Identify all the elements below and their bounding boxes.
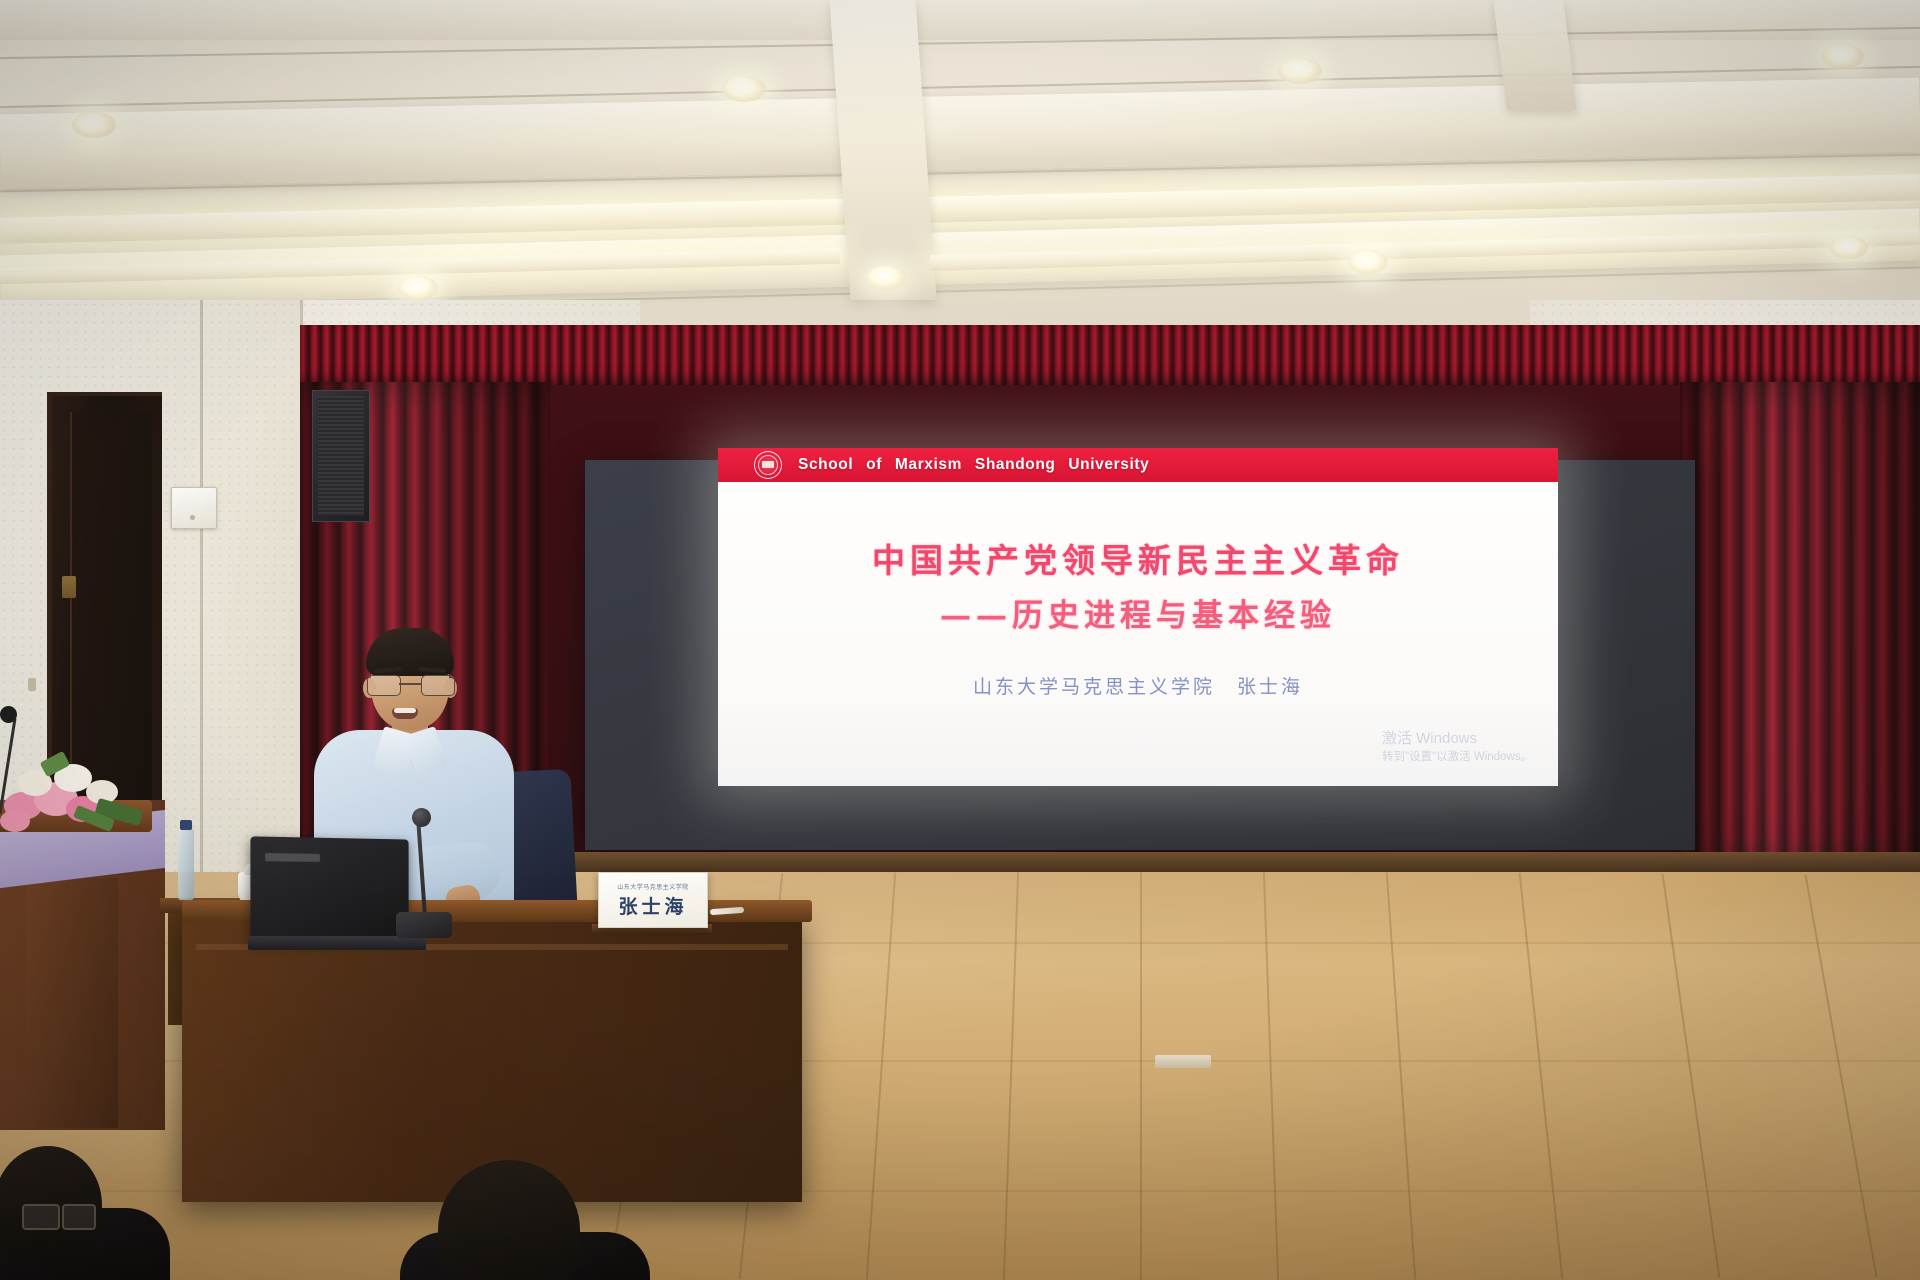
slide-title: 中国共产党领导新民主主义革命 [718,534,1558,582]
downlight [1348,250,1388,274]
projected-slide: School of Marxism Shandong University 中国… [718,448,1558,786]
curtain-pelmet [300,325,1920,385]
university-seal-icon [754,451,782,479]
watermark-line-2: 转到"设置"以激活 Windows。 [1382,749,1532,766]
wall-speaker [312,390,370,522]
audience-eyeglasses-icon [62,1204,96,1230]
laptop-brand-logo [265,853,320,862]
windows-activation-watermark: 激活 Windows 转到"设置"以激活 Windows。 [1382,728,1532,766]
ceiling [0,0,1920,330]
water-bottle[interactable] [178,828,194,900]
floor-air-vent [1155,1055,1211,1068]
eyeglasses-icon [367,675,455,695]
slide-body: 中国共产党领导新民主主义革命 ——历史进程与基本经验 山东大学马克思主义学院 张… [718,482,1558,786]
microphone-head-icon [412,808,431,827]
presenter-desk [182,912,802,1202]
downlight [722,76,766,102]
downlight [866,266,906,290]
wall-light-switch[interactable] [171,487,217,529]
downlight [398,276,438,300]
downlight [72,112,116,138]
slide-banner-text: School of Marxism Shandong University [798,456,1149,474]
watermark-line-1: 激活 Windows [1382,728,1532,750]
nameplate-org: 山东大学马克思主义学院 [617,882,689,891]
slide-banner: School of Marxism Shandong University [718,448,1558,482]
flower-arrangement [0,752,140,838]
nameplate-name: 张士海 [618,892,687,919]
laptop[interactable] [250,836,408,941]
door-lock-icon [28,678,36,691]
audience-eyeglasses-icon [22,1204,60,1230]
slide-author-line: 山东大学马克思主义学院 张士海 [718,672,1558,699]
downlight [1278,58,1322,84]
lecture-hall-photo: School of Marxism Shandong University 中国… [0,0,1920,1280]
stage-curtain-right [1680,382,1920,862]
slide-subtitle: ——历史进程与基本经验 [718,590,1558,635]
downlight [1822,44,1864,69]
desk-nameplate: 山东大学马克思主义学院 张士海 [598,872,708,928]
downlight [1830,236,1868,259]
